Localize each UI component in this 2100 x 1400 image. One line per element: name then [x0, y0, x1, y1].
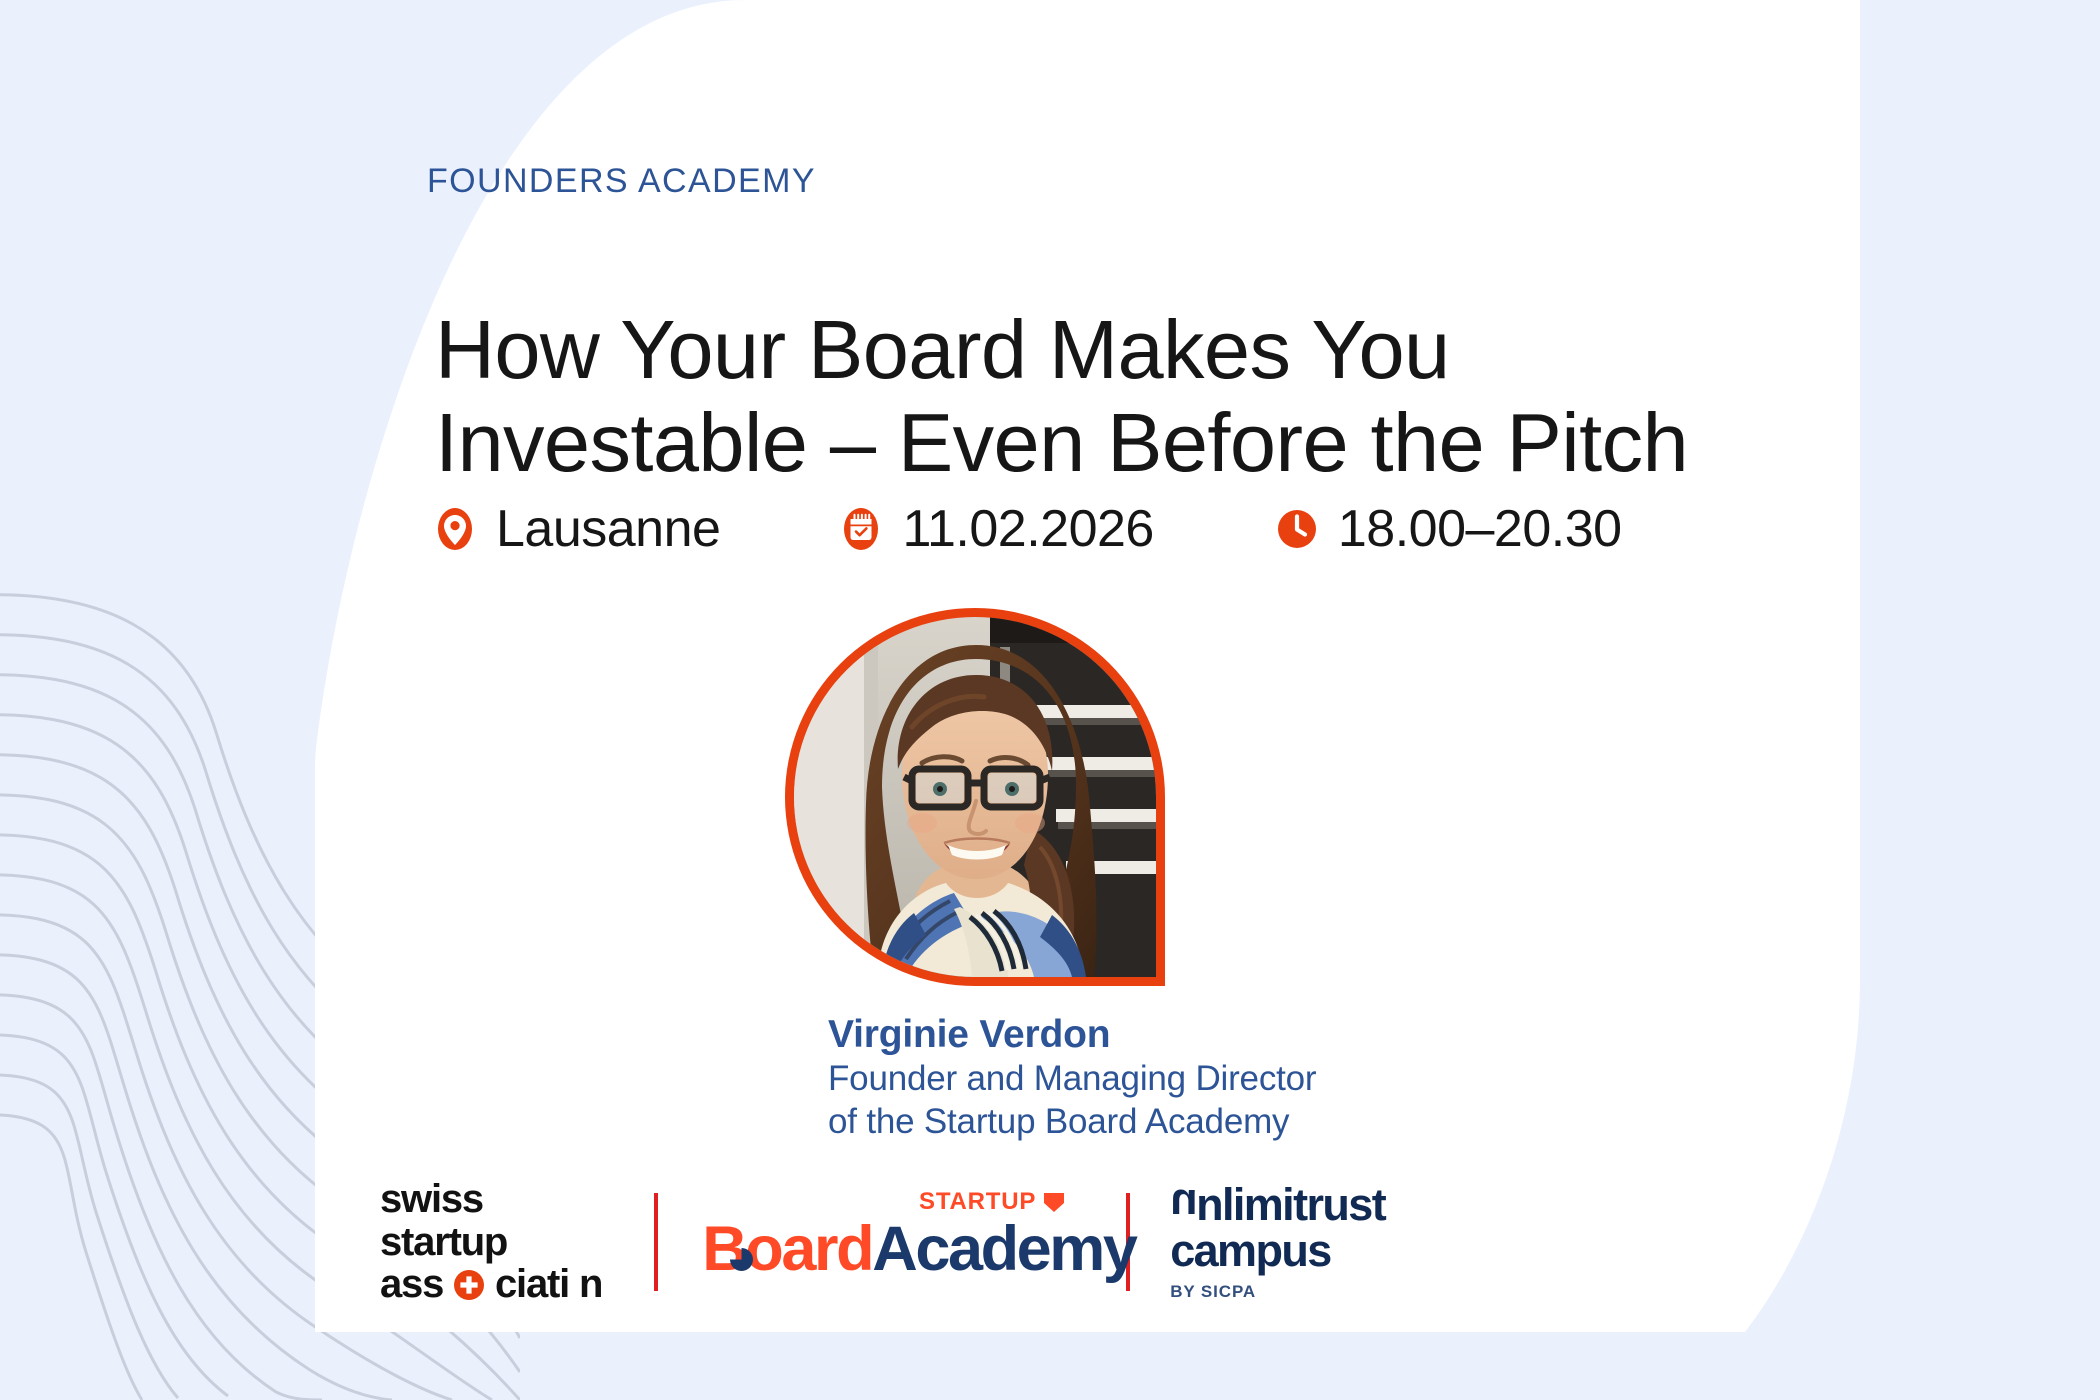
logo-unlimitrust-campus: unlimitrust campus BY SICPA [1170, 1182, 1385, 1302]
meta-spacer [1154, 529, 1274, 530]
meta-spacer [720, 529, 838, 530]
logo-divider-1 [654, 1193, 658, 1291]
speaker-caption: Virginie Verdon Founder and Managing Dir… [828, 1012, 1528, 1143]
event-date: 11.02.2026 [838, 494, 1153, 564]
logo-board-academy: STARTUP BoardAcademy [702, 1182, 1072, 1302]
page-title: How Your Board Makes You Investable – Ev… [435, 304, 1835, 490]
event-time: 18.00–20.30 [1274, 494, 1622, 564]
board-academy-academy-word: Academy [872, 1214, 1135, 1284]
ssa-line-3-before: ass [380, 1262, 443, 1306]
unlimitrust-inverted-u: u [1170, 1182, 1196, 1228]
unlimitrust-rest: nlimitrust [1196, 1179, 1385, 1230]
location-pin-icon [432, 506, 478, 552]
speaker-photo [785, 608, 1165, 986]
partner-logo-row: swiss startup ass ciati n STARTUP [380, 1172, 1480, 1312]
event-meta-row: Lausanne [432, 494, 1622, 564]
board-academy-startup-tag: STARTUP [919, 1188, 1064, 1216]
title-line-1: How Your Board Makes You [435, 304, 1835, 397]
speaker-portrait-illustration [794, 617, 1156, 977]
by-sicpa-byline: BY SICPA [1170, 1282, 1385, 1302]
ssa-line-3-mid: ciati [495, 1262, 569, 1306]
board-academy-board-word: Board [702, 1214, 872, 1284]
event-location: Lausanne [432, 494, 720, 564]
location-text: Lausanne [496, 499, 720, 559]
event-poster: FOUNDERS ACADEMY How Your Board Makes Yo… [0, 0, 2100, 1400]
logo-swiss-startup-association: swiss startup ass ciati n [380, 1178, 602, 1305]
ssa-line-2: startup [380, 1221, 602, 1263]
ssa-line-1: swiss [380, 1178, 602, 1220]
board-academy-startup-label: STARTUP [919, 1188, 1036, 1216]
ssa-line-3-after: n [579, 1262, 602, 1306]
poster-content: FOUNDERS ACADEMY How Your Board Makes Yo… [0, 0, 2100, 1400]
speaker-name: Virginie Verdon [828, 1012, 1528, 1058]
pie-mark-icon [730, 1248, 753, 1271]
board-academy-wordmark: BoardAcademy [702, 1218, 1135, 1281]
campus-wordmark: campus [1170, 1228, 1385, 1274]
time-text: 18.00–20.30 [1338, 499, 1622, 559]
unlimitrust-wordmark: unlimitrust [1170, 1182, 1385, 1228]
date-text: 11.02.2026 [902, 499, 1153, 559]
flag-icon [1044, 1193, 1064, 1212]
ssa-line-3: ass ciati n [380, 1263, 602, 1305]
speaker-photo-clip [794, 617, 1156, 977]
eyebrow-label: FOUNDERS ACADEMY [427, 162, 816, 201]
speaker-role-line-1: Founder and Managing Director [828, 1058, 1528, 1101]
calendar-icon [838, 506, 884, 552]
title-line-2: Investable – Even Before the Pitch [435, 397, 1835, 490]
clock-icon [1274, 506, 1320, 552]
swiss-cross-icon [454, 1270, 484, 1300]
speaker-role-line-2: of the Startup Board Academy [828, 1101, 1528, 1144]
